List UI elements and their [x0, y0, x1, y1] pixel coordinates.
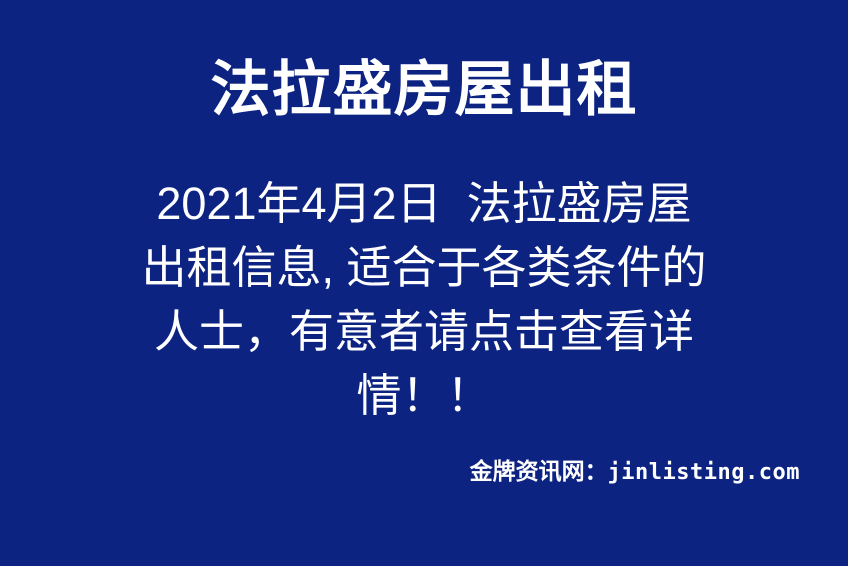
- poster-canvas: 法拉盛房屋出租 2021年4月2日 法拉盛房屋 出租信息, 适合于各类条件的 人…: [0, 0, 848, 566]
- body-line-4: 情！！: [0, 364, 848, 428]
- body-line-1: 2021年4月2日 法拉盛房屋: [0, 172, 848, 236]
- page-title: 法拉盛房屋出租: [0, 58, 848, 123]
- watermark-domain: jinlisting.com: [608, 460, 800, 485]
- body-line-2: 出租信息, 适合于各类条件的: [0, 236, 848, 300]
- watermark-site-name: 金牌资讯网：: [470, 452, 608, 486]
- watermark: 金牌资讯网： jinlisting.com: [470, 452, 800, 486]
- poster-body-text: 2021年4月2日 法拉盛房屋 出租信息, 适合于各类条件的 人士，有意者请点击…: [0, 172, 848, 428]
- body-line-3: 人士，有意者请点击查看详: [0, 300, 848, 364]
